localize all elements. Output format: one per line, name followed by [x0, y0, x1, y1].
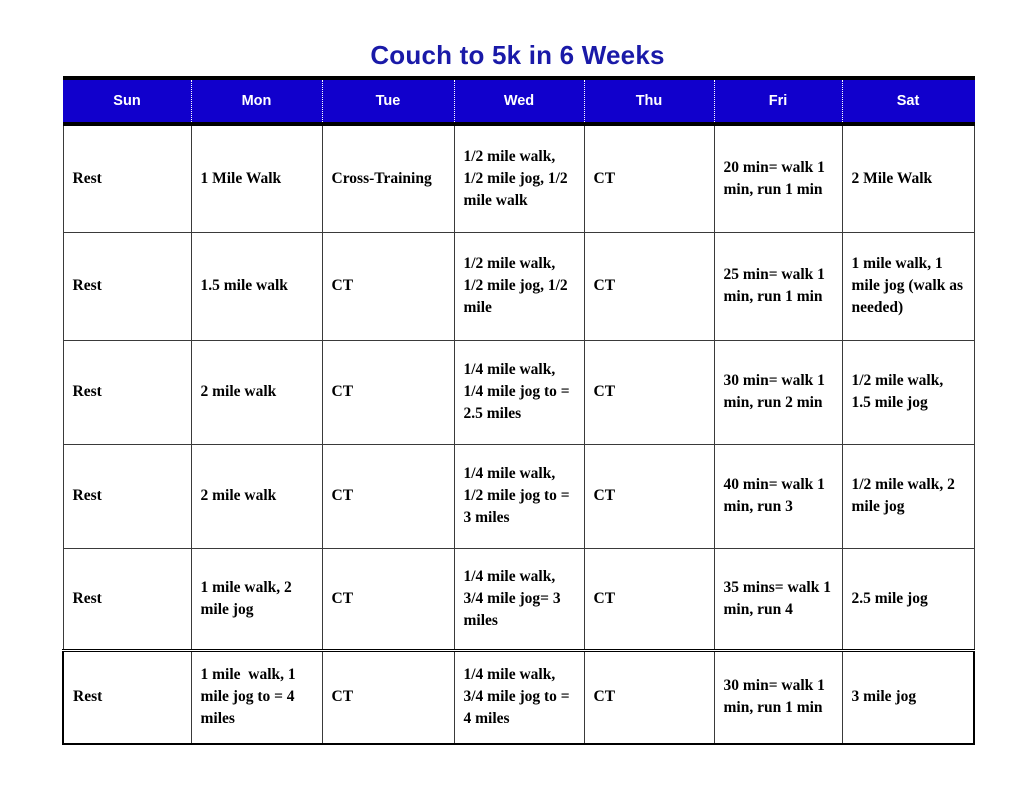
cell-week4-mon: 2 mile walk	[191, 444, 322, 548]
column-header-fri: Fri	[714, 78, 842, 124]
cell-week3-sat: 1/2 mile walk, 1.5 mile jog	[842, 340, 974, 444]
cell-week4-tue: CT	[322, 444, 454, 548]
table-row: Rest 1.5 mile walk CT 1/2 mile walk, 1/2…	[63, 232, 974, 340]
column-header-tue: Tue	[322, 78, 454, 124]
cell-week1-sat: 2 Mile Walk	[842, 124, 974, 232]
cell-week2-wed: 1/2 mile walk, 1/2 mile jog, 1/2 mile	[454, 232, 584, 340]
table-body: Rest 1 Mile Walk Cross-Training 1/2 mile…	[63, 124, 974, 744]
cell-week2-sun: Rest	[63, 232, 191, 340]
cell-week5-mon: 1 mile walk, 2 mile jog	[191, 548, 322, 650]
column-header-sat: Sat	[842, 78, 974, 124]
cell-week6-fri: 30 min= walk 1 min, run 1 min	[714, 650, 842, 744]
training-schedule-table: Sun Mon Tue Wed Thu Fri Sat Rest 1 Mile …	[62, 76, 975, 745]
cell-week6-thu: CT	[584, 650, 714, 744]
table-row: Rest 1 Mile Walk Cross-Training 1/2 mile…	[63, 124, 974, 232]
cell-week3-thu: CT	[584, 340, 714, 444]
page-title: Couch to 5k in 6 Weeks	[0, 40, 1035, 71]
cell-week3-wed: 1/4 mile walk, 1/4 mile jog to = 2.5 mil…	[454, 340, 584, 444]
cell-week1-sun: Rest	[63, 124, 191, 232]
cell-week5-wed: 1/4 mile walk, 3/4 mile jog= 3 miles	[454, 548, 584, 650]
column-header-wed: Wed	[454, 78, 584, 124]
column-header-mon: Mon	[191, 78, 322, 124]
cell-week1-wed: 1/2 mile walk, 1/2 mile jog, 1/2 mile wa…	[454, 124, 584, 232]
cell-week1-tue: Cross-Training	[322, 124, 454, 232]
cell-week2-tue: CT	[322, 232, 454, 340]
cell-week2-sat: 1 mile walk, 1 mile jog (walk as needed)	[842, 232, 974, 340]
cell-week5-sat: 2.5 mile jog	[842, 548, 974, 650]
cell-week5-fri: 35 mins= walk 1 min, run 4	[714, 548, 842, 650]
header-row: Sun Mon Tue Wed Thu Fri Sat	[63, 78, 974, 124]
cell-week6-mon: 1 mile walk, 1 mile jog to = 4 miles	[191, 650, 322, 744]
cell-week3-sun: Rest	[63, 340, 191, 444]
cell-week4-sat: 1/2 mile walk, 2 mile jog	[842, 444, 974, 548]
table-row: Rest 1 mile walk, 2 mile jog CT 1/4 mile…	[63, 548, 974, 650]
cell-week3-tue: CT	[322, 340, 454, 444]
cell-week6-wed: 1/4 mile walk, 3/4 mile jog to = 4 miles	[454, 650, 584, 744]
column-header-thu: Thu	[584, 78, 714, 124]
cell-week1-fri: 20 min= walk 1 min, run 1 min	[714, 124, 842, 232]
cell-week5-sun: Rest	[63, 548, 191, 650]
cell-week6-sat: 3 mile jog	[842, 650, 974, 744]
table-row: Rest 1 mile walk, 1 mile jog to = 4 mile…	[63, 650, 974, 744]
cell-week2-fri: 25 min= walk 1 min, run 1 min	[714, 232, 842, 340]
table-header: Sun Mon Tue Wed Thu Fri Sat	[63, 78, 974, 124]
page-root: Couch to 5k in 6 Weeks Sun Mon Tue Wed T…	[0, 0, 1035, 800]
table-row: Rest 2 mile walk CT 1/4 mile walk, 1/2 m…	[63, 444, 974, 548]
cell-week4-wed: 1/4 mile walk, 1/2 mile jog to = 3 miles	[454, 444, 584, 548]
cell-week4-sun: Rest	[63, 444, 191, 548]
cell-week1-thu: CT	[584, 124, 714, 232]
cell-week4-fri: 40 min= walk 1 min, run 3	[714, 444, 842, 548]
cell-week5-tue: CT	[322, 548, 454, 650]
cell-week2-thu: CT	[584, 232, 714, 340]
cell-week3-mon: 2 mile walk	[191, 340, 322, 444]
cell-week4-thu: CT	[584, 444, 714, 548]
cell-week3-fri: 30 min= walk 1 min, run 2 min	[714, 340, 842, 444]
cell-week6-sun: Rest	[63, 650, 191, 744]
cell-week2-mon: 1.5 mile walk	[191, 232, 322, 340]
cell-week6-tue: CT	[322, 650, 454, 744]
column-header-sun: Sun	[63, 78, 191, 124]
schedule-table-container: Sun Mon Tue Wed Thu Fri Sat Rest 1 Mile …	[62, 76, 973, 745]
cell-week1-mon: 1 Mile Walk	[191, 124, 322, 232]
cell-week5-thu: CT	[584, 548, 714, 650]
table-row: Rest 2 mile walk CT 1/4 mile walk, 1/4 m…	[63, 340, 974, 444]
